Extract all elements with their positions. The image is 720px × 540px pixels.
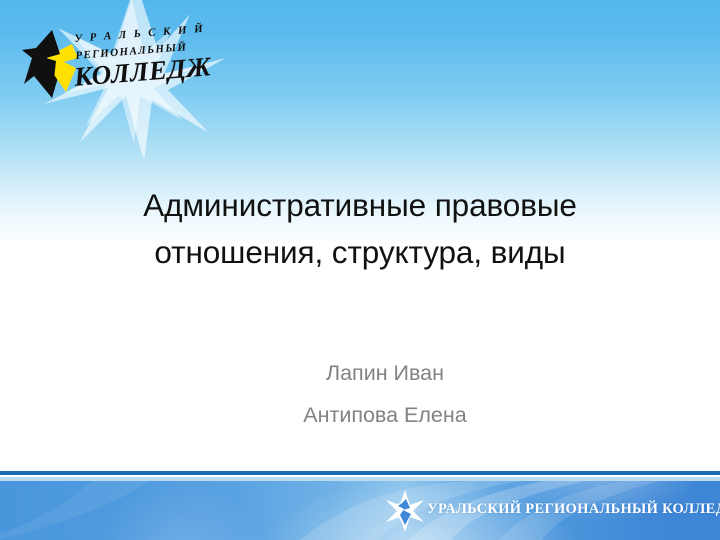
author-name-2: Антипова Елена <box>100 394 670 436</box>
author-name-1: Лапин Иван <box>100 352 670 394</box>
slide-title-line-2: отношения, структура, виды <box>40 229 680 276</box>
college-logo: У Р А Л Ь С К И Й РЕГИОНАЛЬНЫЙ КОЛЛЕДЖ <box>22 24 212 110</box>
presentation-slide: У Р А Л Ь С К И Й РЕГИОНАЛЬНЫЙ КОЛЛЕДЖ А… <box>0 0 720 540</box>
slide-title-line-1: Административные правовые <box>40 182 680 229</box>
footer-college-name: УРАЛЬСКИЙ РЕГИОНАЛЬНЫЙ КОЛЛЕДЖ <box>427 501 720 518</box>
slide-subtitle-authors: Лапин Иван Антипова Елена <box>100 352 670 436</box>
slide-title: Административные правовые отношения, стр… <box>40 182 680 276</box>
footer-logo-mark-icon <box>383 489 427 533</box>
college-logo-wordmark: У Р А Л Ь С К И Й РЕГИОНАЛЬНЫЙ КОЛЛЕДЖ <box>74 24 214 104</box>
